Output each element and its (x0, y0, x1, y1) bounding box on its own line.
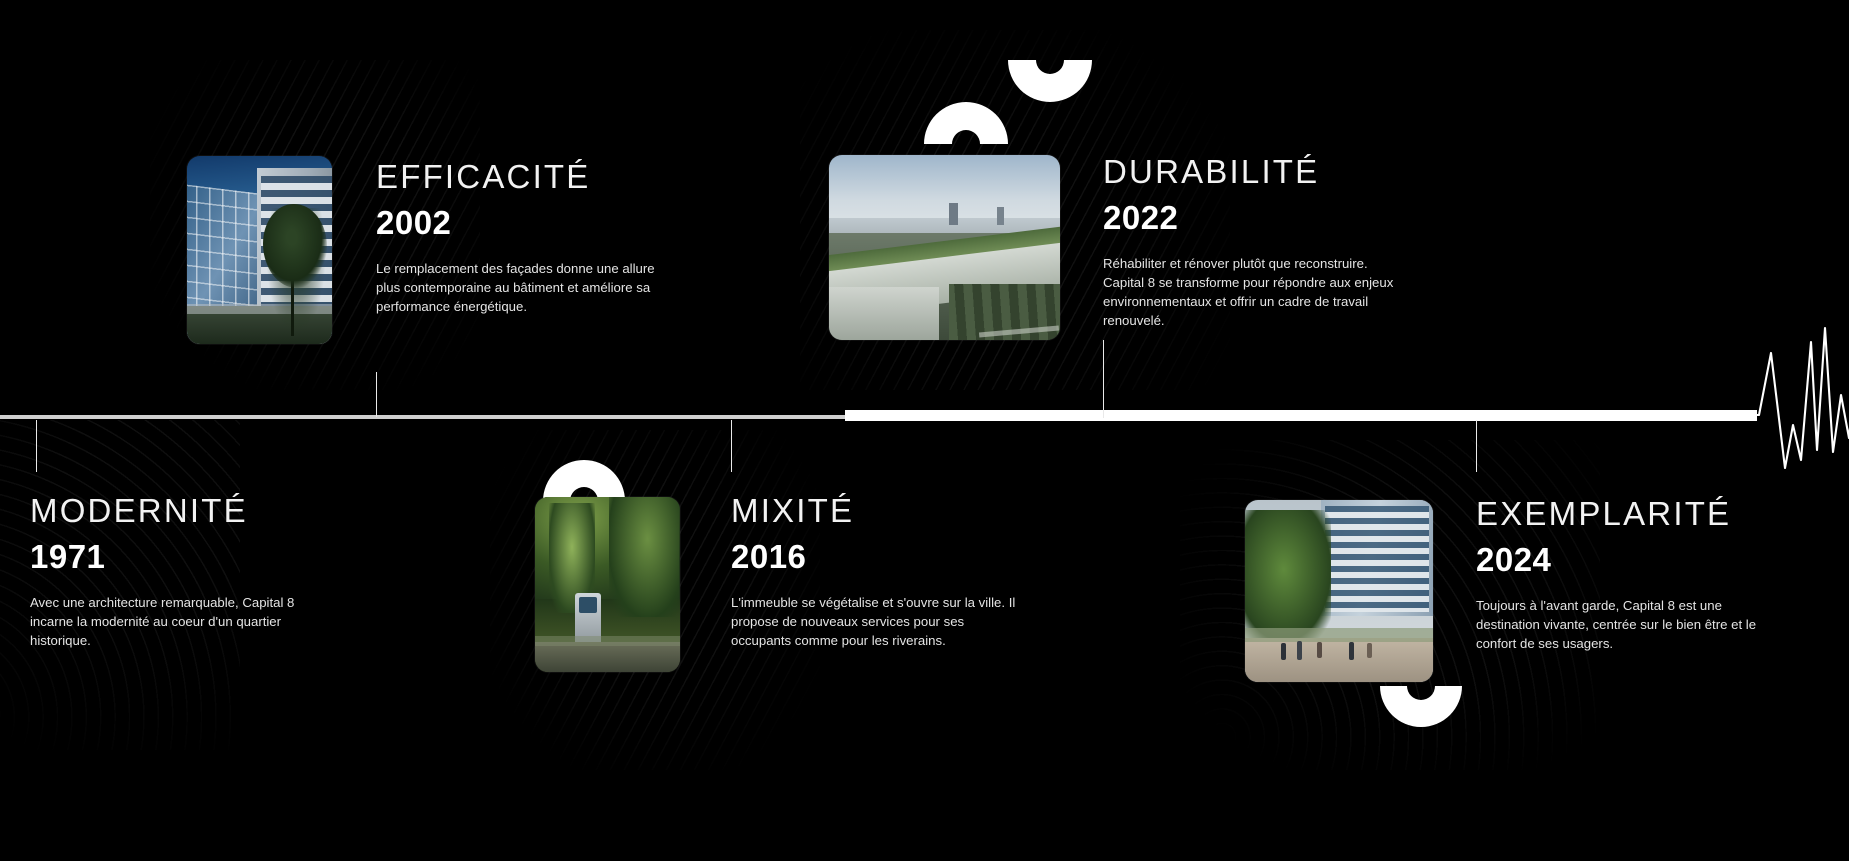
arc-below-exemplarite-down-icon (1375, 686, 1467, 744)
timeline-thin-segment (0, 415, 848, 419)
timeline-infographic: EFFICACITÉ 2002 Le remplacement des faça… (0, 0, 1849, 861)
milestone-text-exemplarite: EXEMPLARITÉ 2024 Toujours à l'avant gard… (1476, 497, 1776, 653)
milestone-text-durabilite: DURABILITÉ 2022 Réhabiliter et rénover p… (1103, 155, 1403, 330)
milestone-year-mixite: 2016 (731, 540, 1021, 573)
milestone-text-efficacite: EFFICACITÉ 2002 Le remplacement des faça… (376, 160, 666, 316)
milestone-title-mixite: MIXITÉ (731, 494, 1021, 527)
milestone-text-modernite: MODERNITÉ 1971 Avec une architecture rem… (30, 494, 320, 650)
milestone-photo-mixite[interactable] (535, 497, 680, 672)
arc-above-durabilite-up-icon (918, 82, 1014, 144)
photo-aerial-rooftop-city-skyline (829, 155, 1060, 340)
milestone-description-exemplarite: Toujours à l'avant garde, Capital 8 est … (1476, 596, 1776, 653)
timeline-pulse-waveform (1745, 320, 1849, 520)
milestone-description-modernite: Avec une architecture remarquable, Capit… (30, 593, 320, 650)
milestone-photo-efficacite[interactable] (187, 156, 332, 344)
connector-efficacite (376, 372, 377, 417)
connector-modernite (36, 420, 37, 472)
timeline-highlight-bar (845, 410, 1757, 421)
photo-green-garden-courtyard (535, 497, 680, 672)
arc-above-mixite-up-icon (538, 443, 630, 501)
milestone-photo-exemplarite[interactable] (1245, 500, 1433, 682)
milestone-title-modernite: MODERNITÉ (30, 494, 320, 527)
photo-glass-facade-office-building (187, 156, 332, 344)
milestone-title-efficacite: EFFICACITÉ (376, 160, 666, 193)
photo-landscaped-plaza-with-people (1245, 500, 1433, 682)
milestone-description-efficacite: Le remplacement des façades donne une al… (376, 259, 666, 316)
connector-exemplarite (1476, 420, 1477, 472)
milestone-text-mixite: MIXITÉ 2016 L'immeuble se végétalise et … (731, 494, 1021, 650)
milestone-title-exemplarite: EXEMPLARITÉ (1476, 497, 1776, 530)
milestone-description-mixite: L'immeuble se végétalise et s'ouvre sur … (731, 593, 1021, 650)
milestone-photo-durabilite[interactable] (829, 155, 1060, 340)
milestone-year-exemplarite: 2024 (1476, 543, 1776, 576)
milestone-description-durabilite: Réhabiliter et rénover plutôt que recons… (1103, 254, 1403, 330)
connector-mixite (731, 420, 732, 472)
arc-above-durabilite-down-icon (1002, 60, 1098, 122)
connector-durabilite (1103, 340, 1104, 418)
milestone-year-modernite: 1971 (30, 540, 320, 573)
milestone-title-durabilite: DURABILITÉ (1103, 155, 1403, 188)
milestone-year-efficacite: 2002 (376, 206, 666, 239)
milestone-year-durabilite: 2022 (1103, 201, 1403, 234)
